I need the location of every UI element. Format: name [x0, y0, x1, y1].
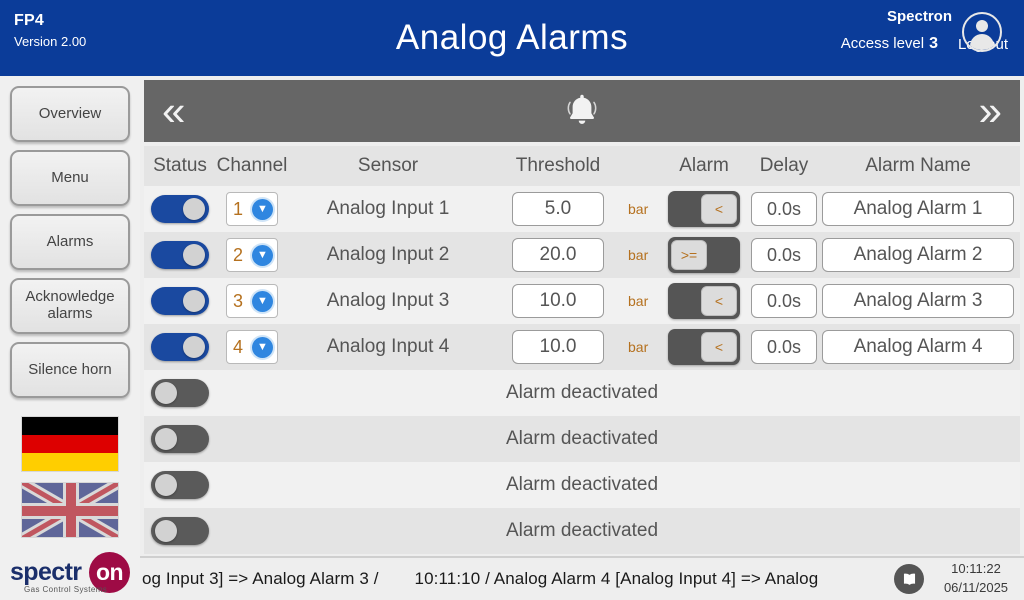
alarm-enable-toggle[interactable] — [151, 379, 209, 407]
table-header-row: Status Channel Sensor Threshold Alarm De… — [144, 146, 1020, 186]
alarm-enable-toggle[interactable] — [151, 333, 209, 361]
threshold-input[interactable]: 10.0 — [512, 330, 604, 364]
sidebar-item-alarms[interactable]: Alarms — [10, 214, 130, 270]
row-status-cell — [144, 241, 216, 269]
comparator-knob: < — [701, 332, 737, 362]
flag-germany-icon[interactable] — [21, 416, 119, 472]
row-alarm-cell: < — [662, 191, 746, 227]
alarm-name-input[interactable]: Analog Alarm 2 — [822, 238, 1014, 272]
sidebar-item-acknowledge-alarms[interactable]: Acknowledge alarms — [10, 278, 130, 334]
row-name-cell: Analog Alarm 3 — [822, 284, 1020, 318]
table-row: 2▼Analog Input 220.0bar>=0.0sAnalog Alar… — [144, 232, 1020, 278]
column-header-threshold: Threshold — [488, 155, 628, 177]
alarm-enable-toggle[interactable] — [151, 517, 209, 545]
channel-select[interactable]: 4▼ — [226, 330, 278, 364]
row-name-cell: Analog Alarm 4 — [822, 330, 1020, 364]
threshold-input[interactable]: 20.0 — [512, 238, 604, 272]
row-alarm-cell: < — [662, 329, 746, 365]
access-level-value: 3 — [929, 35, 938, 52]
status-bar: og Input 3] => Analog Alarm 3 /10:11:10 … — [140, 556, 1024, 600]
toggle-knob — [183, 290, 205, 312]
logo-wordmark: spectr — [10, 558, 81, 587]
toggle-knob — [183, 198, 205, 220]
row-threshold-cell: 10.0 — [488, 284, 628, 318]
channel-select[interactable]: 1▼ — [226, 192, 278, 226]
sensor-label: Analog Input 4 — [288, 336, 488, 358]
app-header: FP4 Version 2.00 Analog Alarms Spectron … — [0, 0, 1024, 76]
row-status-cell — [144, 379, 216, 407]
channel-value: 1 — [233, 199, 243, 220]
alarm-name-input[interactable]: Analog Alarm 1 — [822, 192, 1014, 226]
sensor-label: Analog Input 3 — [288, 290, 488, 312]
toggle-knob — [155, 428, 177, 450]
row-name-cell: Analog Alarm 2 — [822, 238, 1020, 272]
comparator-knob: < — [701, 286, 737, 316]
row-status-cell — [144, 425, 216, 453]
alarms-table: Status Channel Sensor Threshold Alarm De… — [144, 146, 1020, 554]
alarm-deactivated-label: Alarm deactivated — [216, 428, 948, 450]
access-level-label: Access level — [841, 35, 924, 52]
sidebar-item-menu[interactable]: Menu — [10, 150, 130, 206]
column-header-sensor: Sensor — [288, 155, 488, 177]
threshold-input[interactable]: 5.0 — [512, 192, 604, 226]
chevron-down-icon[interactable]: ▼ — [252, 245, 273, 266]
threshold-unit-label: bar — [628, 293, 662, 309]
table-row: 4▼Analog Input 410.0bar<0.0sAnalog Alarm… — [144, 324, 1020, 370]
row-threshold-cell: 10.0 — [488, 330, 628, 364]
channel-select[interactable]: 2▼ — [226, 238, 278, 272]
toggle-knob — [155, 474, 177, 496]
alarm-deactivated-label: Alarm deactivated — [216, 382, 948, 404]
access-level: Access level3 — [841, 35, 938, 53]
column-header-alarm: Alarm — [662, 155, 746, 177]
row-status-cell — [144, 287, 216, 315]
row-channel-cell: 1▼ — [216, 192, 288, 226]
avatar-body — [970, 34, 994, 50]
alarm-enable-toggle[interactable] — [151, 471, 209, 499]
threshold-input[interactable]: 10.0 — [512, 284, 604, 318]
row-threshold-cell: 5.0 — [488, 192, 628, 226]
row-channel-cell: 4▼ — [216, 330, 288, 364]
previous-page-icon[interactable]: « — [162, 90, 185, 132]
table-row: Alarm deactivated — [144, 416, 1020, 462]
alarm-name-input[interactable]: Analog Alarm 3 — [822, 284, 1014, 318]
flag-united-kingdom-icon[interactable] — [21, 482, 119, 538]
row-status-cell — [144, 333, 216, 361]
threshold-unit-label: bar — [628, 247, 662, 263]
alarm-enable-toggle[interactable] — [151, 241, 209, 269]
threshold-unit-label: bar — [628, 339, 662, 355]
alarm-name-input[interactable]: Analog Alarm 4 — [822, 330, 1014, 364]
table-row: Alarm deactivated — [144, 462, 1020, 508]
flag-gb-cross-red-v — [66, 483, 76, 537]
sensor-label: Analog Input 1 — [288, 198, 488, 220]
row-delay-cell: 0.0s — [746, 238, 822, 272]
user-avatar-icon[interactable] — [962, 12, 1002, 52]
delay-input[interactable]: 0.0s — [751, 330, 817, 364]
column-header-status: Status — [144, 155, 216, 177]
sidebar-item-overview[interactable]: Overview — [10, 86, 130, 142]
sidebar-item-silence-horn[interactable]: Silence horn — [10, 342, 130, 398]
table-row: 1▼Analog Input 15.0bar<0.0sAnalog Alarm … — [144, 186, 1020, 232]
avatar-head — [976, 20, 988, 32]
row-channel-cell: 2▼ — [216, 238, 288, 272]
alarm-enable-toggle[interactable] — [151, 287, 209, 315]
table-row: Alarm deactivated — [144, 508, 1020, 554]
delay-input[interactable]: 0.0s — [751, 284, 817, 318]
clock: 10:11:22 06/11/2025 — [932, 560, 1024, 598]
row-status-cell — [144, 471, 216, 499]
alarm-enable-toggle[interactable] — [151, 195, 209, 223]
alarm-comparator-toggle[interactable]: < — [668, 329, 740, 365]
chevron-down-icon[interactable]: ▼ — [252, 337, 273, 358]
content-area: « » Status Channel Sensor Threshold Alar… — [140, 76, 1024, 600]
channel-value: 2 — [233, 245, 243, 266]
row-delay-cell: 0.0s — [746, 284, 822, 318]
toggle-knob — [183, 244, 205, 266]
header-right: Spectron Access level3 Log out — [841, 8, 1014, 53]
row-alarm-cell: >= — [662, 237, 746, 273]
row-name-cell: Analog Alarm 1 — [822, 192, 1020, 226]
spectron-logo: spectr on Gas Control Systems — [8, 552, 136, 594]
content-toolbar: « » — [144, 80, 1020, 142]
next-page-icon[interactable]: » — [979, 90, 1002, 132]
table-body: 1▼Analog Input 15.0bar<0.0sAnalog Alarm … — [144, 186, 1020, 554]
comparator-knob: < — [701, 194, 737, 224]
toggle-knob — [183, 336, 205, 358]
ticker-part-1: og Input 3] => Analog Alarm 3 / — [142, 569, 379, 588]
alarm-ticker: og Input 3] => Analog Alarm 3 /10:11:10 … — [140, 569, 886, 589]
column-header-alarm-name: Alarm Name — [822, 155, 1020, 177]
alarm-comparator-toggle[interactable]: < — [668, 191, 740, 227]
logbook-icon[interactable] — [894, 564, 924, 594]
alarm-deactivated-label: Alarm deactivated — [216, 474, 948, 496]
column-header-channel: Channel — [216, 155, 288, 177]
row-status-cell — [144, 517, 216, 545]
channel-value: 3 — [233, 291, 243, 312]
channel-value: 4 — [233, 337, 243, 358]
threshold-unit-label: bar — [628, 201, 662, 217]
chevron-down-icon[interactable]: ▼ — [252, 291, 273, 312]
sensor-label: Analog Input 2 — [288, 244, 488, 266]
screen-root: FP4 Version 2.00 Analog Alarms Spectron … — [0, 0, 1024, 600]
user-name: Spectron — [841, 8, 952, 25]
alarm-deactivated-label: Alarm deactivated — [216, 520, 948, 542]
row-channel-cell: 3▼ — [216, 284, 288, 318]
alarm-comparator-toggle[interactable]: >= — [668, 237, 740, 273]
row-delay-cell: 0.0s — [746, 330, 822, 364]
chevron-down-icon[interactable]: ▼ — [252, 199, 273, 220]
clock-time: 10:11:22 — [932, 560, 1020, 579]
channel-select[interactable]: 3▼ — [226, 284, 278, 318]
clock-date: 06/11/2025 — [932, 579, 1020, 598]
delay-input[interactable]: 0.0s — [751, 192, 817, 226]
alarm-comparator-toggle[interactable]: < — [668, 283, 740, 319]
toggle-knob — [155, 382, 177, 404]
comparator-knob: >= — [671, 240, 707, 270]
row-alarm-cell: < — [662, 283, 746, 319]
row-threshold-cell: 20.0 — [488, 238, 628, 272]
logo-tagline: Gas Control Systems — [24, 585, 107, 594]
delay-input[interactable]: 0.0s — [751, 238, 817, 272]
toggle-knob — [155, 520, 177, 542]
alarm-enable-toggle[interactable] — [151, 425, 209, 453]
row-status-cell — [144, 195, 216, 223]
sidebar: Overview Menu Alarms Acknowledge alarms … — [0, 76, 140, 600]
alarm-bell-icon[interactable] — [559, 88, 605, 134]
ticker-part-2: 10:11:10 / Analog Alarm 4 [Analog Input … — [415, 569, 819, 588]
table-row: 3▼Analog Input 310.0bar<0.0sAnalog Alarm… — [144, 278, 1020, 324]
row-delay-cell: 0.0s — [746, 192, 822, 226]
column-header-delay: Delay — [746, 155, 822, 177]
table-row: Alarm deactivated — [144, 370, 1020, 416]
